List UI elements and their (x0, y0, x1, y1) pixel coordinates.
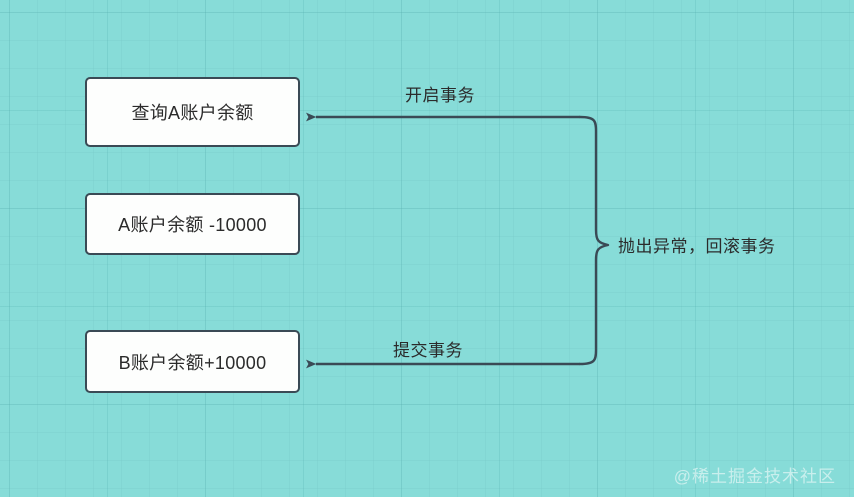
node-label: A账户余额 -10000 (118, 211, 267, 237)
diagram-canvas: 查询A账户余额 A账户余额 -10000 B账户余额+10000 开启事务 提交… (0, 0, 854, 497)
node-label: 查询A账户余额 (131, 99, 253, 125)
edge-label-begin-transaction: 开启事务 (405, 81, 475, 106)
node-label: B账户余额+10000 (119, 349, 267, 375)
watermark: @稀土掘金技术社区 (674, 462, 836, 487)
edge-label-rollback-transaction: 抛出异常，回滚事务 (618, 232, 776, 257)
edge-label-commit-transaction: 提交事务 (393, 336, 463, 361)
rollback-brace (580, 117, 608, 364)
node-credit-b-account: B账户余额+10000 (85, 330, 300, 393)
node-debit-a-account: A账户余额 -10000 (85, 193, 300, 255)
node-query-a-balance: 查询A账户余额 (85, 77, 300, 147)
